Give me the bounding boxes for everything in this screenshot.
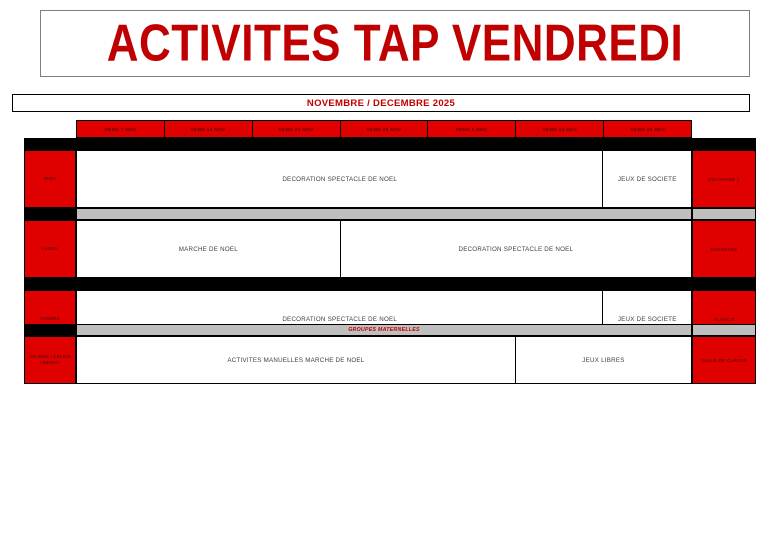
activity-label: MARCHE DE NOEL xyxy=(179,246,238,253)
activity-cell[interactable]: JEUX LIBRES xyxy=(515,336,692,384)
activity-label: DECORATION SPECTACLE DE NOEL xyxy=(282,316,397,323)
activity-cell[interactable]: JEUX DE SOCIETE xyxy=(602,150,692,208)
activity-label: DECORATION SPECTACLE DE NOEL xyxy=(282,176,397,183)
row-band xyxy=(76,208,692,220)
activity-label: JEUX DE SOCIETE xyxy=(618,316,677,323)
date-label: VEND 14 NOV xyxy=(191,126,226,131)
room-name: ESCAPADE 2 xyxy=(708,177,739,182)
date-header-cell: VEND 19 DEC xyxy=(603,120,692,138)
row-band-stub-left xyxy=(24,324,76,336)
period-banner: NOVEMBRE / DECEMBRE 2025 xyxy=(12,94,750,112)
animator-name: SANDRA xyxy=(40,316,60,322)
row-band-stub-left xyxy=(24,138,76,150)
row-band: GROUPES MATERNELLES xyxy=(76,324,692,336)
activity-label: ACTIVITES MANUELLES MARCHE DE NOEL xyxy=(227,357,364,364)
row-band-stub-right xyxy=(692,208,756,220)
activity-cell[interactable]: ACTIVITES MANUELLES MARCHE DE NOEL xyxy=(76,336,515,384)
activity-label: JEUX DE SOCIETE xyxy=(618,176,677,183)
activity-row: MARCHE DE NOEL DECORATION SPECTACLE DE N… xyxy=(76,220,692,278)
animator-name: IRINA xyxy=(44,176,57,182)
title-banner: ACTIVITES TAP VENDREDI xyxy=(40,10,750,77)
date-header-cell: VEND 7 NOV xyxy=(76,120,164,138)
date-header-cell: VEND 14 NOV xyxy=(164,120,252,138)
room-label-cell: SALLE DE CLASSE xyxy=(692,336,756,384)
room-label-cell: ESCAPADE xyxy=(692,220,756,278)
date-label: VEND 12 DEC xyxy=(542,126,577,131)
animator-label-cell: VALERIE / CELINE / BENOIT xyxy=(24,336,76,384)
row-band xyxy=(76,138,692,150)
room-name: ESCAPADE xyxy=(710,247,737,252)
activity-cell[interactable]: DECORATION SPECTACLE DE NOEL xyxy=(76,150,602,208)
activity-cell[interactable]: DECORATION SPECTACLE DE NOEL xyxy=(340,220,692,278)
period-label: NOVEMBRE / DECEMBRE 2025 xyxy=(307,98,455,109)
date-header-row: VEND 7 NOV VEND 14 NOV VEND 21 NOV VEND … xyxy=(76,120,692,138)
activity-row: ACTIVITES MANUELLES MARCHE DE NOEL JEUX … xyxy=(76,336,692,384)
date-label: VEND 21 NOV xyxy=(279,126,314,131)
page-title: ACTIVITES TAP VENDREDI xyxy=(107,18,684,70)
row-band-label: GROUPES MATERNELLES xyxy=(348,327,420,333)
date-header-cell: VEND 12 DEC xyxy=(515,120,603,138)
room-name: SALLE DE CLASSE xyxy=(701,358,747,363)
activity-cell[interactable]: MARCHE DE NOEL xyxy=(76,220,340,278)
date-label: VEND 7 NOV xyxy=(104,126,136,131)
activity-label: DECORATION SPECTACLE DE NOEL xyxy=(458,246,573,253)
row-band xyxy=(76,278,692,290)
date-label: VEND 28 NOV xyxy=(367,126,402,131)
schedule-grid: VEND 7 NOV VEND 14 NOV VEND 21 NOV VEND … xyxy=(12,120,756,385)
room-label-cell: ESCAPADE 2 xyxy=(692,150,756,208)
room-name: ALGECO xyxy=(713,317,734,322)
activity-label: JEUX LIBRES xyxy=(582,357,624,364)
date-label: VEND 19 DEC xyxy=(630,126,665,131)
animator-name: LAURA xyxy=(42,246,58,252)
row-band-stub-left xyxy=(24,278,76,290)
animator-label-cell: LAURA xyxy=(24,220,76,278)
animator-name: VALERIE / CELINE / BENOIT xyxy=(29,354,71,367)
date-label: VEND 5 DEC xyxy=(456,126,488,131)
row-band-stub-right xyxy=(692,138,756,150)
row-band-stub-right xyxy=(692,324,756,336)
date-header-cell: VEND 21 NOV xyxy=(252,120,340,138)
animator-label-cell: IRINA xyxy=(24,150,76,208)
date-header-cell: VEND 5 DEC xyxy=(427,120,515,138)
date-header-cell: VEND 28 NOV xyxy=(340,120,428,138)
activity-row: DECORATION SPECTACLE DE NOEL JEUX DE SOC… xyxy=(76,150,692,208)
row-band-stub-left xyxy=(24,208,76,220)
row-band-stub-right xyxy=(692,278,756,290)
